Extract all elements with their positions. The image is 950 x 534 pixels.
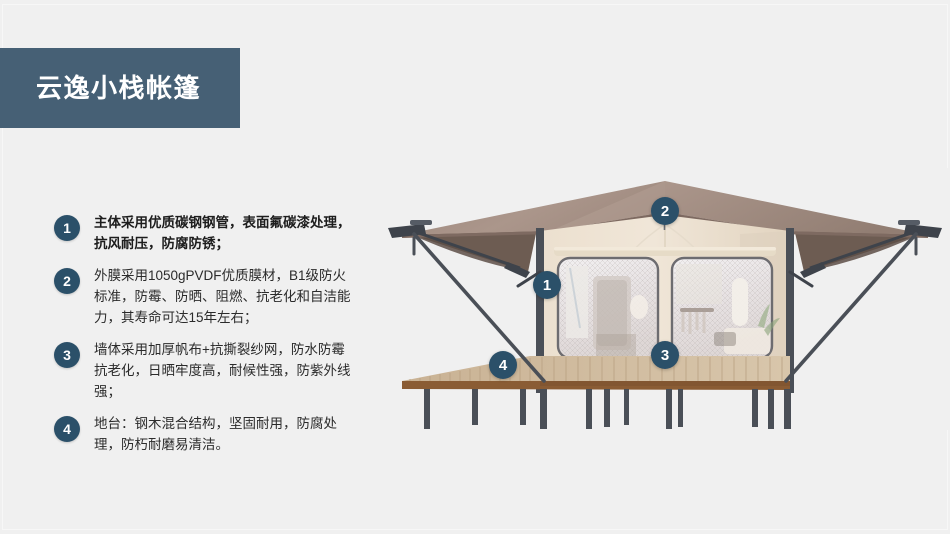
window-left bbox=[558, 258, 658, 358]
feature-item-4: 4 地台：钢木混合结构，坚固耐用，防腐处理，防朽耐磨易清洁。 bbox=[54, 413, 354, 455]
feature-item-1: 1 主体采用优质碳钢钢管，表面氟碳漆处理，抗风耐压，防腐防锈； bbox=[54, 212, 354, 254]
feature-badge-1: 1 bbox=[54, 215, 80, 241]
feature-list: 1 主体采用优质碳钢钢管，表面氟碳漆处理，抗风耐压，防腐防锈； 2 外膜采用10… bbox=[54, 212, 354, 466]
callout-marker-2: 2 bbox=[651, 197, 679, 225]
feature-badge-4: 4 bbox=[54, 416, 80, 442]
feature-item-2: 2 外膜采用1050gPVDF优质膜材，B1级防火标准，防霉、防晒、阻燃、抗老化… bbox=[54, 265, 354, 328]
feature-item-3: 3 墙体采用加厚帆布+抗撕裂纱网，防水防霉抗老化，日晒牢度高，耐候性强，防紫外线… bbox=[54, 339, 354, 402]
feature-text-2: 外膜采用1050gPVDF优质膜材，B1级防火标准，防霉、防晒、阻燃、抗老化和自… bbox=[94, 265, 354, 328]
feature-text-4: 地台：钢木混合结构，坚固耐用，防腐处理，防朽耐磨易清洁。 bbox=[94, 413, 354, 455]
feature-badge-2: 2 bbox=[54, 268, 80, 294]
slide-canvas: 云逸小栈帐篷 1 主体采用优质碳钢钢管，表面氟碳漆处理，抗风耐压，防腐防锈； 2… bbox=[0, 0, 950, 534]
callout-marker-3: 3 bbox=[651, 341, 679, 369]
callout-marker-1: 1 bbox=[533, 271, 561, 299]
callout-marker-4: 4 bbox=[489, 351, 517, 379]
title-banner: 云逸小栈帐篷 bbox=[0, 48, 240, 128]
feature-text-3: 墙体采用加厚帆布+抗撕裂纱网，防水防霉抗老化，日晒牢度高，耐候性强，防紫外线强； bbox=[94, 339, 354, 402]
feature-badge-3: 3 bbox=[54, 342, 80, 368]
window-right bbox=[672, 258, 780, 358]
feature-text-1: 主体采用优质碳钢钢管，表面氟碳漆处理，抗风耐压，防腐防锈； bbox=[94, 212, 354, 254]
page-title: 云逸小栈帐篷 bbox=[36, 75, 201, 101]
